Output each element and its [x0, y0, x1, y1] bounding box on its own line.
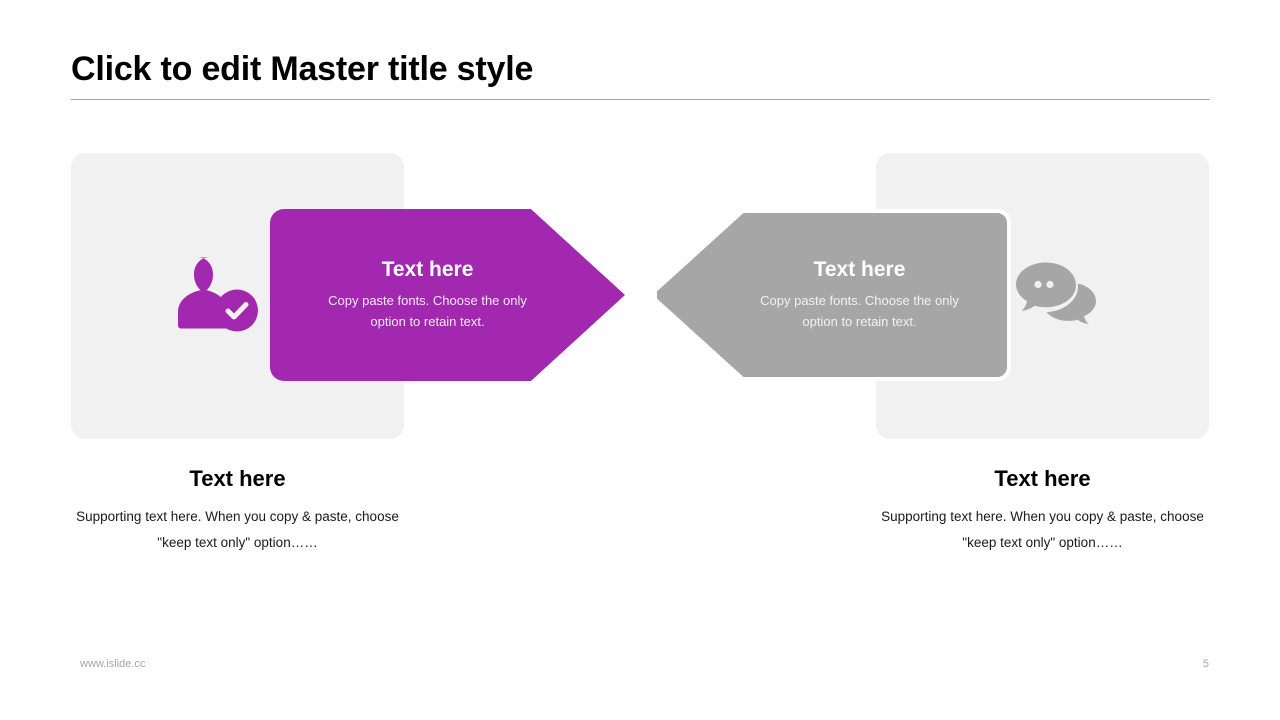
arrow-left-content: Text here Copy paste fonts. Choose the o… — [310, 209, 545, 381]
arrow-left: Text here Copy paste fonts. Choose the o… — [270, 209, 625, 381]
caption-right: Text here Supporting text here. When you… — [876, 466, 1209, 557]
caption-left-body: Supporting text here. When you copy & pa… — [71, 504, 404, 557]
footer-url: www.islide.cc — [80, 658, 145, 670]
caption-left: Text here Supporting text here. When you… — [71, 466, 404, 557]
arrow-right-content: Text here Copy paste fonts. Choose the o… — [742, 213, 977, 377]
person-check-icon — [175, 255, 261, 338]
footer-page-number: 5 — [1185, 658, 1209, 670]
arrow-right-body: Copy paste fonts. Choose the only option… — [742, 290, 977, 333]
page-title-text: Click to edit Master title style — [71, 48, 1210, 91]
caption-right-title: Text here — [876, 466, 1209, 492]
caption-right-body: Supporting text here. When you copy & pa… — [876, 504, 1209, 557]
arrow-right-heading: Text here — [814, 258, 906, 282]
arrow-left-body: Copy paste fonts. Choose the only option… — [310, 290, 545, 333]
arrow-left-heading: Text here — [382, 258, 474, 282]
page-title: Click to edit Master title style — [71, 48, 1210, 100]
arrow-right: Text here Copy paste fonts. Choose the o… — [653, 209, 1011, 381]
chat-bubbles-icon — [1016, 263, 1096, 330]
caption-left-title: Text here — [71, 466, 404, 492]
